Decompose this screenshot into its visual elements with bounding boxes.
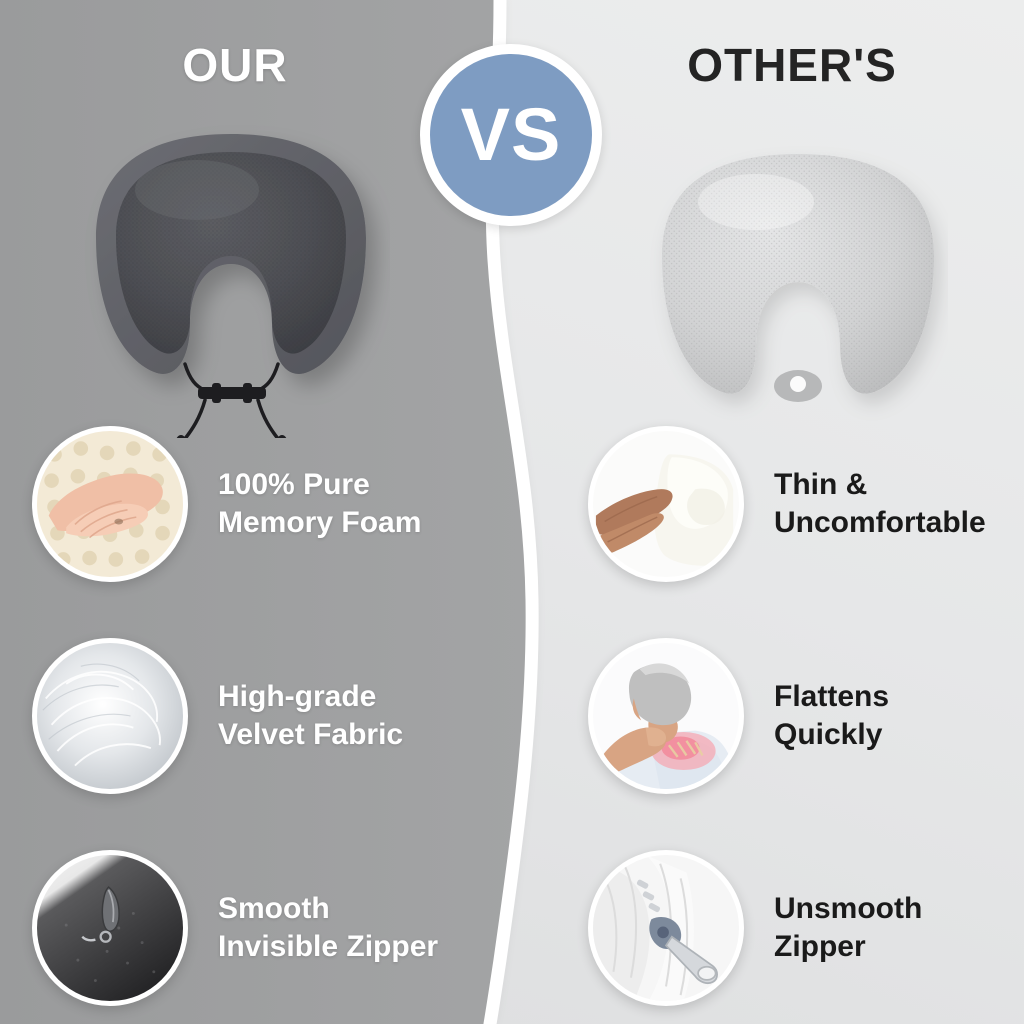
dark-fabric-invisible-zipper-icon — [32, 850, 188, 1006]
list-item-label: Smooth Invisible Zipper — [218, 890, 438, 966]
list-item-label: Thin & Uncomfortable — [774, 466, 986, 542]
hand-pressing-thin-foam-icon — [588, 426, 744, 582]
white-fabric-metal-zipper-icon — [588, 850, 744, 1006]
list-item: Thin & Uncomfortable — [588, 426, 1024, 582]
hero-image-our-pillow — [72, 118, 390, 438]
hand-pressing-memory-foam-icon — [32, 426, 188, 582]
list-item: Smooth Invisible Zipper — [32, 850, 502, 1006]
white-velvet-fabric-icon — [32, 638, 188, 794]
page-title-others: OTHER'S — [672, 38, 912, 92]
list-item-label: High-grade Velvet Fabric — [218, 678, 403, 754]
list-item-label: Flattens Quickly — [774, 678, 889, 754]
hero-image-other-pillow — [648, 140, 948, 430]
vs-badge: VS — [420, 44, 602, 226]
list-item-label: 100% Pure Memory Foam — [218, 466, 421, 542]
list-item: Unsmooth Zipper — [588, 850, 1024, 1006]
list-item: High-grade Velvet Fabric — [32, 638, 502, 794]
page-title-our: OUR — [150, 38, 320, 92]
comparison-infographic: OUR OTHER'S VS — [0, 0, 1024, 1024]
man-with-neck-pain-icon — [588, 638, 744, 794]
list-item: 100% Pure Memory Foam — [32, 426, 502, 582]
vs-badge-label: VS — [461, 98, 562, 172]
list-item-label: Unsmooth Zipper — [774, 890, 922, 966]
list-item: Flattens Quickly — [588, 638, 1024, 794]
